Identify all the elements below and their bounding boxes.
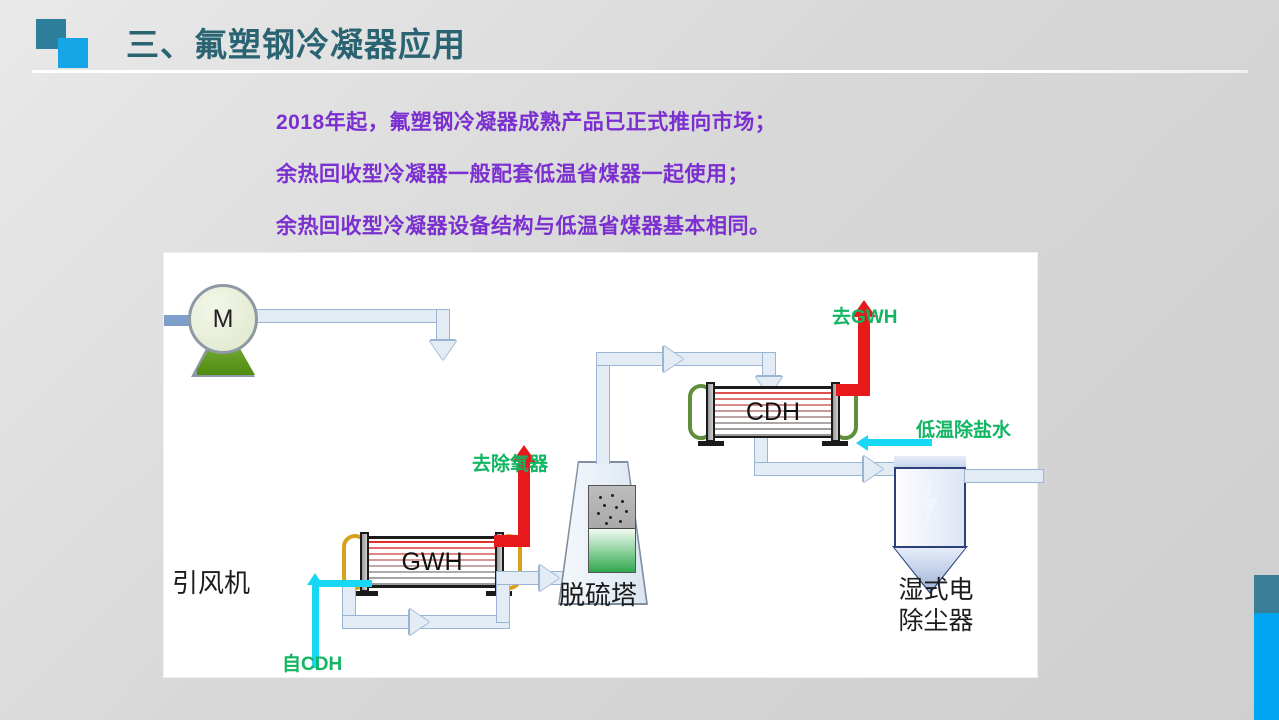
- tower-slurry-pool: [589, 529, 635, 572]
- cdh-foot-left: [698, 441, 724, 446]
- cdh-label: CDH: [710, 389, 836, 435]
- tower-spray-zone: [589, 486, 635, 529]
- duct-right-arrow-icon-1: [410, 609, 429, 635]
- body-line-2: 余热回收型冷凝器一般配套低温省煤器一起使用；: [276, 158, 1176, 188]
- duct-fan-to-gwh-horizontal: [250, 309, 450, 323]
- duct-down-arrow-icon: [430, 341, 456, 360]
- cdh-header-plate-left: [706, 382, 715, 442]
- slide-root: 三、氟塑钢冷凝器应用 2018年起，氟塑钢冷凝器成熟产品已正式推向市场； 余热回…: [0, 0, 1279, 720]
- process-flow-diagram: M 引风机: [164, 253, 1037, 677]
- label-low-temp-demin-water: 低温除盐水: [916, 415, 1011, 442]
- duct-right-arrow-icon-3: [664, 346, 683, 372]
- esp-caption: 湿式电 除尘器: [876, 575, 996, 638]
- page-title: 三、氟塑钢冷凝器应用: [126, 18, 466, 66]
- esp-caption-line2: 除尘器: [876, 606, 996, 637]
- induced-draft-fan: M: [188, 284, 258, 354]
- gwh-cold-water-arrow-icon: [307, 573, 323, 585]
- duct-right-arrow-icon-2: [540, 565, 559, 591]
- duct-tower-to-cdh-riser: [596, 352, 610, 464]
- tower-internals: [588, 485, 636, 573]
- cdh-heat-exchanger: CDH: [688, 386, 858, 438]
- edge-accent-top: [1254, 575, 1279, 613]
- duct-cdh-to-esp-horizontal: [754, 462, 906, 476]
- duct-esp-outlet: [964, 469, 1044, 483]
- duct-fan-to-gwh-vertical: [436, 309, 450, 345]
- cdh-foot-right: [822, 441, 848, 446]
- process-diagram-panel: M 引风机: [164, 253, 1037, 677]
- label-from-cdh: 自CDH: [282, 649, 342, 676]
- body-line-3: 余热回收型冷凝器设备结构与低温省煤器基本相同。: [276, 210, 1176, 240]
- label-to-gwh: 去GWH: [832, 302, 897, 329]
- duct-tower-to-cdh-horizontal: [596, 352, 776, 366]
- fan-caption: 引风机: [172, 563, 250, 600]
- duct-right-arrow-icon-4: [864, 456, 883, 482]
- edge-accent-bottom: [1254, 613, 1279, 720]
- gwh-body: GWH: [364, 536, 500, 588]
- decorative-square-blue: [58, 38, 88, 68]
- tower-caption: 脱硫塔: [559, 575, 637, 612]
- esp-caption-line1: 湿式电: [876, 575, 996, 606]
- fan-motor-label: M: [191, 287, 255, 351]
- header-divider: [32, 70, 1248, 73]
- body-line-1: 2018年起，氟塑钢冷凝器成熟产品已正式推向市场；: [276, 106, 1176, 136]
- label-to-deaerator: 去除氧器: [472, 449, 548, 476]
- gwh-label: GWH: [364, 539, 500, 585]
- esp-cap: [894, 456, 966, 469]
- body-text-block: 2018年起，氟塑钢冷凝器成熟产品已正式推向市场； 余热回收型冷凝器一般配套低温…: [276, 106, 1176, 262]
- cdh-cold-water-arrow-icon: [856, 435, 868, 451]
- cdh-body: CDH: [710, 386, 836, 438]
- edge-accent: [1254, 575, 1279, 720]
